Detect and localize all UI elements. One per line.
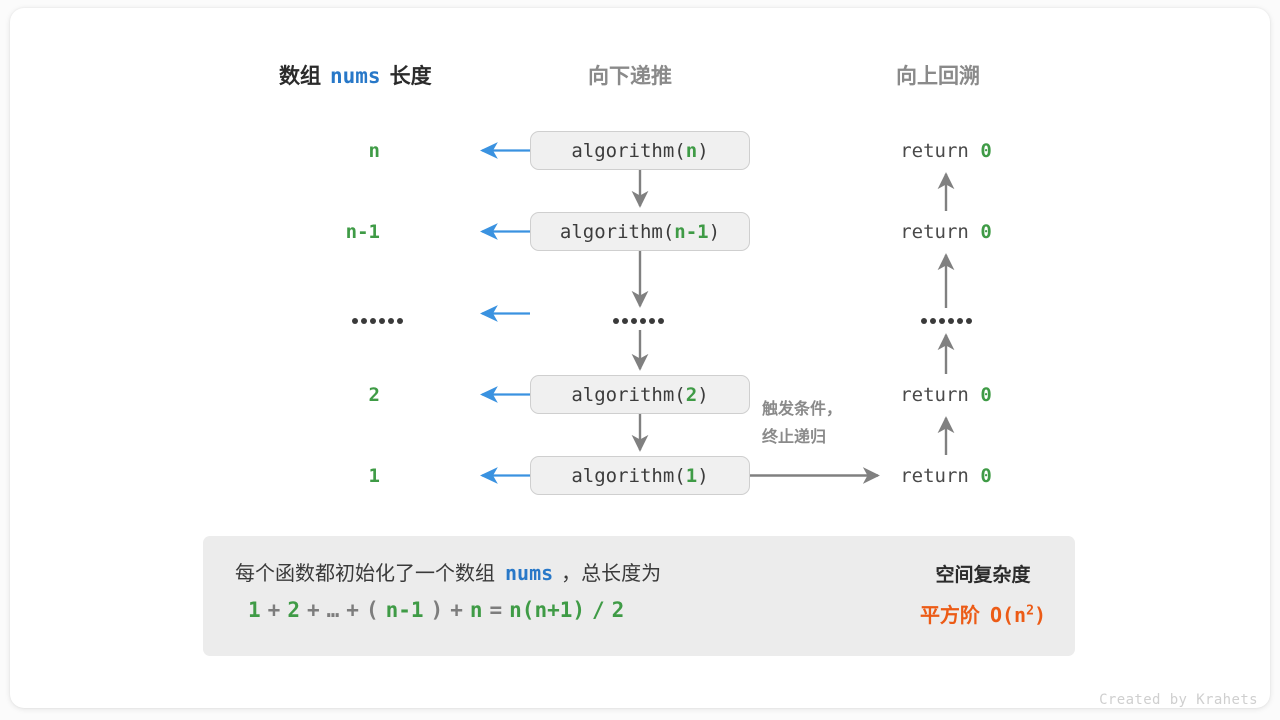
call-box-row-3[interactable]: algorithm(2): [530, 375, 750, 414]
formula-token-5: +: [346, 598, 359, 622]
terminate-annotation-line1: 触发条件，: [762, 396, 842, 424]
ellipsis-left: [352, 318, 403, 324]
page-background: 数组nums长度 向下递推 向上回溯 n algorithm(n) return…: [0, 0, 1280, 720]
return-keyword: return: [900, 465, 969, 487]
terminate-annotation: 触发条件， 终止递归: [762, 396, 842, 451]
call-arg: n-1: [674, 221, 708, 243]
formula-token-3: +: [307, 598, 320, 622]
return-value: 0: [980, 384, 991, 406]
size-label-row-1: n-1: [290, 221, 380, 243]
size-label-row-4: 1: [290, 465, 380, 487]
return-keyword: return: [900, 221, 969, 243]
call-box-row-4[interactable]: algorithm(1): [530, 456, 750, 495]
return-label-row-3: return 0: [856, 384, 1036, 406]
formula-token-13: /: [592, 598, 605, 622]
call-prefix: algorithm(: [571, 140, 685, 162]
formula-token-12: n(n+1): [509, 598, 585, 622]
formula-token-9: +: [450, 598, 463, 622]
call-suffix: ): [697, 465, 708, 487]
formula-token-10: n: [470, 598, 483, 622]
call-arg: 2: [686, 384, 697, 406]
formula-token-1: +: [268, 598, 281, 622]
call-suffix: ): [697, 140, 708, 162]
header-left-suffix: 长度: [390, 65, 432, 88]
formula-token-2: 2: [287, 598, 300, 622]
call-prefix: algorithm(: [571, 384, 685, 406]
size-label-row-3: 2: [290, 384, 380, 406]
summary-title: 空间复杂度: [893, 560, 1073, 587]
header-left: 数组nums长度: [279, 60, 432, 90]
summary-formula: 1+2+…+(n-1)+n=n(n+1)/2: [248, 598, 631, 622]
call-suffix: ): [697, 384, 708, 406]
header-middle: 向下递推: [588, 60, 672, 90]
return-label-row-4: return 0: [856, 465, 1036, 487]
summary-line1-suffix: ，总长度为: [561, 563, 661, 585]
call-arg: n: [686, 140, 697, 162]
formula-token-11: =: [490, 598, 503, 622]
call-prefix: algorithm(: [560, 221, 674, 243]
formula-token-14: 2: [612, 598, 625, 622]
summary-line1-code: nums: [505, 561, 553, 585]
call-arg: 1: [686, 465, 697, 487]
return-label-row-1: return 0: [856, 221, 1036, 243]
return-label-row-0: return 0: [856, 140, 1036, 162]
call-box-row-0[interactable]: algorithm(n): [530, 131, 750, 170]
formula-token-6: (: [366, 598, 379, 622]
call-suffix: ): [709, 221, 720, 243]
formula-token-8: ): [431, 598, 444, 622]
header-left-code: nums: [330, 64, 381, 88]
formula-token-4: …: [327, 598, 340, 622]
terminate-annotation-line2: 终止递归: [762, 424, 842, 452]
header-left-prefix: 数组: [279, 65, 321, 88]
summary-result-cjk: 平方阶: [920, 605, 980, 627]
summary-line-1: 每个函数都初始化了一个数组nums，总长度为: [235, 557, 661, 586]
call-prefix: algorithm(: [571, 465, 685, 487]
summary-line1-prefix: 每个函数都初始化了一个数组: [235, 563, 495, 585]
return-value: 0: [980, 221, 991, 243]
return-keyword: return: [900, 140, 969, 162]
summary-result: 平方阶O(n2): [893, 599, 1073, 628]
formula-token-0: 1: [248, 598, 261, 622]
return-value: 0: [980, 140, 991, 162]
summary-panel: 每个函数都初始化了一个数组nums，总长度为 1+2+…+(n-1)+n=n(n…: [203, 536, 1075, 656]
ellipsis-right: [921, 318, 972, 324]
summary-result-bigo: O(n2): [990, 603, 1046, 627]
ellipsis-middle: [613, 318, 664, 324]
return-keyword: return: [900, 384, 969, 406]
size-label-row-0: n: [290, 140, 380, 162]
header-right: 向上回溯: [896, 60, 980, 90]
formula-token-7: n-1: [386, 598, 424, 622]
footer-credit: Created by Krahets: [1099, 692, 1258, 708]
call-box-row-1[interactable]: algorithm(n-1): [530, 212, 750, 251]
return-value: 0: [980, 465, 991, 487]
